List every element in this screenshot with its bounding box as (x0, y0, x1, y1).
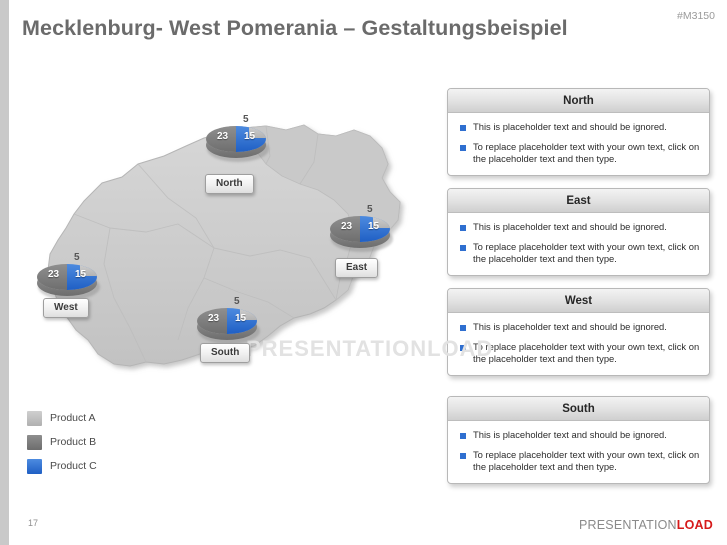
legend-swatch-icon (27, 411, 42, 426)
pie-value-product-a: 5 (367, 204, 373, 215)
bullet-text: To replace placeholder text with your ow… (473, 341, 701, 366)
page-number: 17 (28, 518, 38, 528)
bullet-item[interactable]: To replace placeholder text with your ow… (456, 241, 701, 266)
pie-value-product-c: 15 (368, 221, 379, 232)
bullet-item[interactable]: To replace placeholder text with your ow… (456, 341, 701, 366)
bullet-item[interactable]: This is placeholder text and should be i… (456, 321, 701, 334)
bullet-square-icon (460, 225, 466, 231)
panel-title: East (448, 189, 709, 213)
pie-value-product-c: 15 (235, 313, 246, 324)
pie-chart-south (197, 308, 257, 334)
map-label-east[interactable]: East (335, 258, 378, 278)
map-marker-north[interactable]: 5 23 15 (204, 118, 276, 178)
pie-value-product-a: 5 (243, 114, 249, 125)
legend-label: Product B (50, 436, 96, 448)
bullet-text: This is placeholder text and should be i… (473, 221, 667, 234)
panel-body: This is placeholder text and should be i… (448, 421, 709, 483)
legend-item-product-c[interactable]: Product C (27, 454, 97, 478)
pie-value-product-b: 23 (217, 131, 228, 142)
pie-value-product-a: 5 (74, 252, 80, 263)
panel-east[interactable]: East This is placeholder text and should… (447, 188, 710, 276)
bullet-square-icon (460, 145, 466, 151)
bullet-item[interactable]: To replace placeholder text with your ow… (456, 141, 701, 166)
map-container[interactable]: PRESENTATIONLOAD 5 23 15 North 5 (18, 78, 438, 398)
pie-chart-east (330, 216, 390, 242)
bullet-square-icon (460, 325, 466, 331)
logo-text-load: LOAD (677, 518, 713, 532)
legend-label: Product C (50, 460, 97, 472)
legend-item-product-a[interactable]: Product A (27, 406, 97, 430)
left-accent-bar (0, 0, 9, 545)
bullet-square-icon (460, 125, 466, 131)
panel-title: West (448, 289, 709, 313)
panel-west[interactable]: West This is placeholder text and should… (447, 288, 710, 376)
bullet-item[interactable]: This is placeholder text and should be i… (456, 221, 701, 234)
map-label-south[interactable]: South (200, 343, 250, 363)
pie-value-product-c: 15 (75, 269, 86, 280)
panel-body: This is placeholder text and should be i… (448, 213, 709, 275)
map-label-north[interactable]: North (205, 174, 254, 194)
slide: Mecklenburg- West Pomerania – Gestaltung… (0, 0, 727, 545)
bullet-item[interactable]: This is placeholder text and should be i… (456, 429, 701, 442)
panel-title: North (448, 89, 709, 113)
template-code: #M3150 (677, 10, 715, 22)
legend-swatch-icon (27, 459, 42, 474)
map-label-west[interactable]: West (43, 298, 89, 318)
bullet-square-icon (460, 345, 466, 351)
pie-value-product-b: 23 (48, 269, 59, 280)
legend-item-product-b[interactable]: Product B (27, 430, 97, 454)
bullet-text: To replace placeholder text with your ow… (473, 241, 701, 266)
legend: Product A Product B Product C (27, 406, 97, 478)
legend-swatch-icon (27, 435, 42, 450)
pie-value-product-b: 23 (341, 221, 352, 232)
panel-north[interactable]: North This is placeholder text and shoul… (447, 88, 710, 176)
pie-value-product-c: 15 (244, 131, 255, 142)
bullet-item[interactable]: This is placeholder text and should be i… (456, 121, 701, 134)
pie-chart-north (206, 126, 266, 152)
bullet-text: This is placeholder text and should be i… (473, 321, 667, 334)
bullet-text: This is placeholder text and should be i… (473, 121, 667, 134)
legend-label: Product A (50, 412, 96, 424)
panel-title: South (448, 397, 709, 421)
panel-body: This is placeholder text and should be i… (448, 113, 709, 175)
bullet-square-icon (460, 453, 466, 459)
pie-value-product-a: 5 (234, 296, 240, 307)
panel-body: This is placeholder text and should be i… (448, 313, 709, 375)
page-title: Mecklenburg- West Pomerania – Gestaltung… (22, 16, 568, 41)
pie-chart-west (37, 264, 97, 290)
bullet-text: To replace placeholder text with your ow… (473, 141, 701, 166)
bullet-text: To replace placeholder text with your ow… (473, 449, 701, 474)
bullet-text: This is placeholder text and should be i… (473, 429, 667, 442)
bullet-square-icon (460, 433, 466, 439)
bullet-square-icon (460, 245, 466, 251)
pie-value-product-b: 23 (208, 313, 219, 324)
bullet-item[interactable]: To replace placeholder text with your ow… (456, 449, 701, 474)
panel-south[interactable]: South This is placeholder text and shoul… (447, 396, 710, 484)
presentationload-logo: PRESENTATIONLOAD (579, 518, 713, 532)
logo-text-presentation: PRESENTATION (579, 518, 677, 532)
